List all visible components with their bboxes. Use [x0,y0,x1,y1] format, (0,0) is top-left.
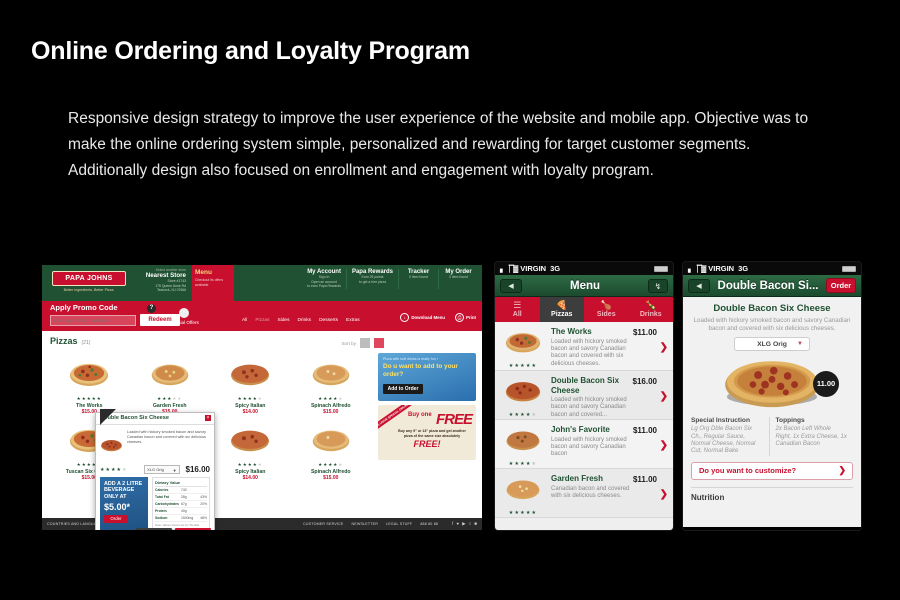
nav-bar: ◀ Double Bacon Si... Order [683,275,861,297]
special-instruction-block: Special Instruction Lg Org Dble Bacon Si… [691,417,769,456]
product-detail-modal: Double Bacon Six Cheese × Loaded with hi… [95,412,215,530]
item-price: $11.00 [633,328,657,337]
pizza-image [99,428,124,462]
phone-detail-screenshot: ▖▕▔▓ VIRGIN 3G ◀ Double Bacon Si... Orde… [683,262,861,530]
product-card[interactable]: ★★★★★ Spicy Italian $14.00 [211,353,290,415]
help-icon[interactable]: ? [147,304,156,313]
header-link-papa-rewards[interactable]: Papa Rewards Earn 25 points to get a fre… [346,269,398,289]
header-link-my-account[interactable]: My Account Sign In Open an account to ea… [302,269,346,289]
chevron-down-icon: ▼ [173,467,177,475]
filter-extras[interactable]: Extras [346,318,360,323]
social-icons: f ● ▶ ○ ■ [452,521,477,527]
nav-bar: ◀ Menu ↯ [495,275,673,297]
pizza-image [227,357,273,389]
phone-menu-screenshot: ▖▕▔▓ VIRGIN 3G ◀ Menu ↯ ☰ All 🍕 Pizzas 🍗… [495,262,673,530]
size-select-value: XLG Orig [757,341,787,348]
nutrition-value: 1540mg [181,516,195,520]
product-card[interactable]: ★★★★★ Spinach Alfredo $15.00 [292,353,371,415]
coupon-buy-one: Buy one [408,412,432,418]
rating-stars: ★★★★★ [501,510,545,516]
sides-icon: 🍗 [584,300,629,310]
print-label: Print [466,315,476,320]
nutrition-pct [195,488,207,492]
tab-drinks[interactable]: 🍾 Drinks [629,297,674,322]
signal-icon: ▖▕▔▓ [500,265,517,273]
network-label: 3G [550,264,560,273]
pizza-image [720,353,824,411]
item-price: $11.00 [633,426,657,435]
nutrition-pct: 48% [195,516,207,520]
download-menu-label: Download Menu [411,315,445,320]
menu-item-list[interactable]: ★★★★★ The Works Loaded with hickory smok… [495,322,673,530]
nutrition-value: 740 [181,488,195,492]
nutrition-row: Carbohydrates 67g 20% [155,501,207,508]
filter-icon[interactable]: ↯ [648,279,668,293]
back-arrow-icon[interactable]: ◀ [688,279,710,293]
desktop-promo-bar: Apply Promo Code Redeem ? Special Offers… [42,301,482,331]
item-price: $16.00 [633,377,657,386]
print-button[interactable]: ⎙ Print [455,313,476,322]
size-select-value: XLG Orig [147,467,164,472]
nav-tab-menu-label: Menu [195,269,231,276]
pizza-image [503,376,543,404]
customize-button[interactable]: Customize [136,528,172,530]
page-description: Responsive design strategy to improve th… [68,106,816,184]
tab-sides-label: Sides [584,311,629,318]
filter-all[interactable]: All [242,318,247,323]
size-select[interactable]: XLG Orig ▼ [734,337,810,351]
nav-title: Menu [522,280,648,292]
item-name: Double Bacon Six Cheese [551,376,633,395]
store-name: Nearest Store [134,272,186,279]
promo-code-label: Apply Promo Code [50,303,180,312]
header-link-tracker[interactable]: Tracker 0 Item found [398,269,438,289]
item-description: Loaded with hickory smoked bacon and sav… [551,339,633,369]
toppings-body: 2x Bacon Left Whole Right, 1x Extra Chee… [776,426,849,448]
pizza-icon: 🍕 [540,300,585,310]
rating-stars: ★★★★★ [501,412,545,418]
filter-sides[interactable]: Sides [277,318,289,323]
product-card[interactable]: ★★★★★ Spicy Italian $14.00 [211,419,290,481]
list-item[interactable]: ★★★★★ The Works Loaded with hickory smok… [495,322,673,371]
nutrition-pct: 20% [195,502,207,506]
instagram-icon[interactable]: ■ [474,521,477,527]
pizza-image [308,423,354,455]
all-icon: ☰ [495,300,540,310]
carrier-label: VIRGIN [520,264,546,273]
chevron-down-icon: ▼ [797,338,803,351]
customize-row[interactable]: Do you want to customize? ❯ [691,462,853,480]
product-card[interactable]: ★★★★★ Spinach Alfredo $15.00 [292,419,371,481]
modal-description: Loaded with hickory smoked bacon and sav… [124,428,211,462]
list-view-button[interactable] [374,338,384,348]
special-offers-link[interactable]: Special Offers [170,308,199,325]
order-button[interactable]: Order [826,278,856,293]
nutrition-table: Dietary Value Calories 740 Total Fat 28g… [152,477,210,530]
nutrition-name: Carbohydrates [155,502,181,506]
rating-stars: ★★★★★ [292,396,371,402]
nutrition-pct: 43% [195,495,207,499]
add-to-order-button[interactable]: Add to Order [383,384,423,394]
nutrition-value: 67g [181,502,195,506]
product-price: $14.00 [211,409,290,415]
drink-ad-line1: Pizza with soft drinks is really fun ! [383,357,471,361]
order-now-button[interactable]: Order Now [175,528,211,530]
pizza-image [503,425,543,453]
carrier-label: VIRGIN [708,264,734,273]
list-item[interactable]: ★★★★★ Garden Fresh Canadian bacon and co… [495,469,673,518]
pizza-image [308,357,354,389]
rating-stars: ★★★★★ [211,462,290,468]
product-price: $15.00 [292,475,371,481]
coupon-free: FREE [436,411,472,428]
nutrition-pct [195,509,207,513]
chevron-right-icon[interactable]: ❯ [660,440,668,451]
special-instruction-body: Lg Org Dble Bacon Six Ch., Regular Sauce… [691,426,764,456]
nutrition-row: Total Fat 28g 43% [155,494,207,501]
desktop-content: Pizzas (21) Sort by [42,331,482,516]
rss-icon[interactable]: ○ [469,521,472,527]
filter-drinks[interactable]: Drinks [297,318,311,323]
size-select[interactable]: XLG Orig ▼ [144,465,179,474]
tab-all[interactable]: ☰ All [495,297,540,322]
nutrition-name: Calories [155,488,181,492]
nutrition-name: Sodium [155,516,181,520]
logo-tagline: Better Ingredients. Better Pizza. [50,288,128,293]
item-price: $11.00 [633,475,657,484]
nutrition-row: Calories 740 [155,487,207,494]
pizza-image [503,474,543,502]
detail-title: Double Bacon Six Cheese [691,303,853,314]
my-order-sub1: 0 Item found [444,275,473,280]
battery-icon [842,266,856,272]
header-tools: ↓ Download Menu ⎙ Print [400,313,476,322]
detail-description: Loaded with hickory smoked bacon and sav… [691,317,853,332]
download-menu-button[interactable]: ↓ Download Menu [400,313,445,322]
nutrition-name: Protein [155,509,181,513]
list-item[interactable]: ★★★★★ John's Favorite Loaded with hickor… [495,420,673,469]
product-price: $15.00 [292,409,371,415]
close-icon[interactable]: × [205,415,211,421]
status-bar: ▖▕▔▓ VIRGIN 3G [683,262,861,275]
new-badge-flag [100,409,116,425]
back-arrow-icon[interactable]: ◀ [500,279,522,293]
nutrition-row: Sodium 1540mg 48% [155,515,207,522]
beverage-upsell-panel[interactable]: ADD A 2 LITRE BEVERAGE ONLY AT $5.00* Or… [100,477,148,530]
nutrition-value: 40g [181,509,195,513]
chevron-right-icon[interactable]: ❯ [660,391,668,402]
item-description: Loaded with hickory smoked bacon and sav… [551,397,633,419]
nutrition-section-label: Nutrition [691,487,853,502]
modal-options-row: ★★★★★ XLG Orig ▼ $16.00 [96,465,214,474]
header-account-links: My Account Sign In Open an account to ea… [302,269,478,289]
product-card[interactable]: ★★★★★ Garden Fresh $15.00 [131,353,210,415]
tag-icon [179,308,189,318]
pizza-image [66,357,112,389]
rating-stars: ★★★★★ [501,363,545,369]
status-bar: ▖▕▔▓ VIRGIN 3G [495,262,673,275]
grid-view-button[interactable] [360,338,370,348]
product-card[interactable]: ★★★★★ The Works $15.00 [50,353,129,415]
item-name: The Works [551,327,633,337]
signal-icon: ▖▕▔▓ [688,265,705,273]
coupon-free2: FREE! [378,439,476,449]
price-badge: 11.00 [813,371,839,397]
nutrition-name: Total Fat [155,495,181,499]
tab-sides[interactable]: 🍗 Sides [584,297,629,322]
filter-desserts[interactable]: Desserts [319,318,338,323]
rating-stars: ★★★★★ [100,467,144,473]
nav-tab-menu[interactable]: Menu Checkout its offers available [192,265,234,301]
chevron-right-icon: ❯ [838,465,846,476]
printer-icon: ⎙ [455,313,464,322]
my-account-sub3: to earn Papa Rewards [307,284,341,289]
modal-price: $16.00 [186,465,210,474]
footer-phone: 888 80 88 [420,522,438,526]
section-count: (21) [82,340,91,346]
nutrition-value: 28g [181,495,195,499]
brand-logo[interactable]: PAPA JOHNS Better Ingredients. Better Pi… [50,268,128,300]
modal-footer: Customize Order Now [136,528,211,530]
rating-stars: ★★★★★ [50,396,129,402]
section-header: Pizzas (21) [50,336,474,346]
chevron-right-icon[interactable]: ❯ [660,342,668,353]
sort-by-dropdown[interactable]: Sort by [341,341,356,346]
papa-rewards-sub2: to get a free pizza [352,280,393,285]
beverage-price: $5.00* [104,502,144,512]
tab-pizzas-label: Pizzas [540,311,585,318]
toppings-block: Toppings 2x Bacon Left Whole Right, 1x E… [769,417,854,456]
detail-image-area: 11.00 [691,353,853,413]
nutrition-row: Protein 40g [155,508,207,515]
promo-code-input[interactable] [50,315,136,326]
item-name: Garden Fresh [551,474,633,484]
tracker-sub1: 0 Item found [404,275,433,280]
detail-content: Double Bacon Six Cheese Loaded with hick… [683,297,861,527]
special-offers-label: Special Offers [170,320,199,325]
bogo-coupon-ad[interactable]: EXCLUSIVE SPECIAL ONLINE Buy one FREE Bu… [378,405,476,460]
beverage-order-button[interactable]: Order [104,515,128,523]
drink-upsell-ad[interactable]: Pizza with soft drinks is really fun ! D… [378,353,476,401]
page-title: Online Ordering and Loyalty Program [31,37,470,66]
footer-legal-stuff[interactable]: LEGAL STUFF [386,522,412,526]
footer-newsletter[interactable]: NEWSLETTER [352,522,379,526]
sidebar-promotions: Pizza with soft drinks is really fun ! D… [378,353,476,460]
twitter-icon[interactable]: ● [456,521,459,527]
footer-customer-service[interactable]: CUSTOMER SERVICE [303,522,343,526]
store-address-2: Teaneck, NJ 07666 [134,288,186,293]
section-title: Pizzas [50,336,78,346]
slide-root: Online Ordering and Loyalty Program Resp… [0,0,900,600]
item-description: Loaded with hickory smoked bacon and sav… [551,437,633,459]
nav-tab-menu-sub: Checkout its offers available [195,278,231,287]
desktop-header: PAPA JOHNS Better Ingredients. Better Pi… [42,265,482,301]
drink-ad-line2: Do u want to add to your order? [383,363,471,379]
sort-and-view-controls: Sort by [341,338,384,348]
chevron-right-icon[interactable]: ❯ [660,489,668,500]
promo-code-block: Apply Promo Code Redeem [50,303,180,326]
desktop-screenshot: PAPA JOHNS Better Ingredients. Better Pi… [42,265,482,530]
pizza-image [147,357,193,389]
tab-all-label: All [495,311,540,318]
rating-stars: ★★★★★ [131,396,210,402]
tab-drinks-label: Drinks [629,311,674,318]
pizza-image [503,327,543,355]
item-description: Canadian bacon and covered with six deli… [551,486,633,501]
download-icon: ↓ [400,313,409,322]
network-label: 3G [738,264,748,273]
modal-title: Double Bacon Six Cheese [100,415,210,421]
modal-lower: ADD A 2 LITRE BEVERAGE ONLY AT $5.00* Or… [96,474,214,530]
tab-pizzas[interactable]: 🍕 Pizzas [540,297,585,322]
nav-title: Double Bacon Si... [710,280,826,292]
coupon-sub: Buy any 9" or 13" pizza and get another … [394,429,470,438]
beverage-headline: ADD A 2 LITRE BEVERAGE ONLY AT [104,481,144,500]
youtube-icon[interactable]: ▶ [462,521,465,527]
rating-stars: ★★★★★ [211,396,290,402]
nutrition-header: Dietary Value [155,480,207,487]
modal-body: Loaded with hickory smoked bacon and sav… [96,425,214,465]
facebook-icon[interactable]: f [452,521,453,527]
pizza-image [227,423,273,455]
drinks-icon: 🍾 [629,300,674,310]
detail-columns: Special Instruction Lg Org Dble Bacon Si… [691,417,853,456]
list-item[interactable]: ★★★★★ Double Bacon Six Cheese Loaded wit… [495,371,673,420]
store-selector[interactable]: Select another store Nearest Store Store… [134,268,186,293]
logo-badge: PAPA JOHNS [52,271,126,286]
toppings-heading: Toppings [776,417,849,424]
filter-pizzas[interactable]: Pizzas [255,318,269,323]
rating-stars: ★★★★★ [292,462,371,468]
item-name: John's Favorite [551,425,633,435]
battery-icon [654,266,668,272]
category-tabs: ☰ All 🍕 Pizzas 🍗 Sides 🍾 Drinks [495,297,673,322]
category-filter-list: All Pizzas Sides Drinks Desserts Extras [242,318,360,323]
rating-stars: ★★★★★ [501,461,545,467]
special-instruction-heading: Special Instruction [691,417,764,424]
product-price: $14.00 [211,475,290,481]
header-link-my-order[interactable]: My Order 0 Item found [438,269,478,289]
customize-label: Do you want to customize? [699,466,796,475]
